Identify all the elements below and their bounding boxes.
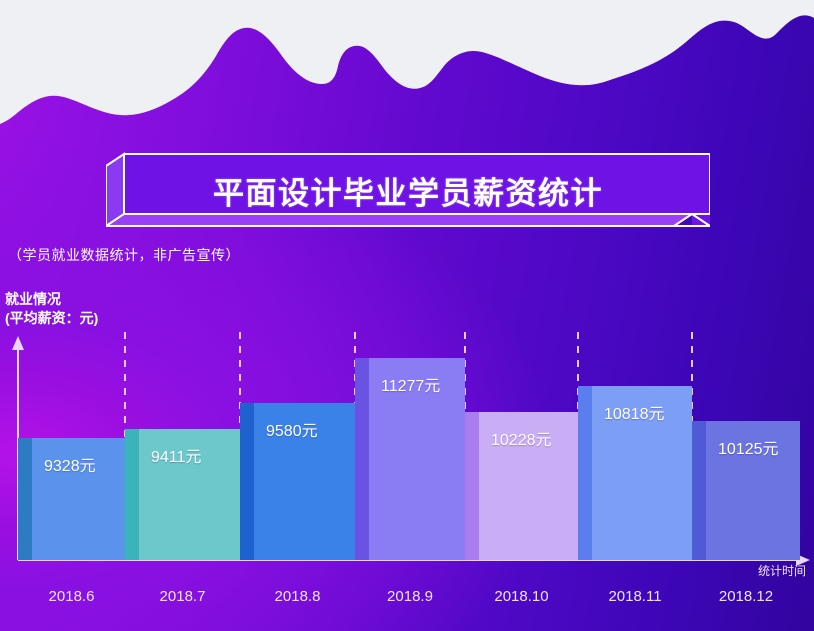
- bar-edge: [355, 358, 369, 560]
- bar-value-label: 10228元: [491, 426, 552, 450]
- bar-edge: [692, 421, 706, 560]
- y-axis-caption-line1: 就业情况: [5, 290, 98, 309]
- x-tick-2018.9: 2018.9: [355, 588, 465, 605]
- subtitle-note: （学员就业数据统计，非广告宣传）: [8, 245, 240, 265]
- bar-chart-plot: 9328元9411元9580元11277元10228元10818元10125元: [0, 330, 814, 565]
- bar-edge: [240, 403, 254, 560]
- bar-2018.8[interactable]: 9580元: [240, 403, 355, 560]
- bar-edge: [18, 438, 32, 560]
- bar-value-label: 9580元: [266, 417, 318, 441]
- x-tick-2018.7: 2018.7: [125, 588, 240, 605]
- ribbon-shape: [106, 148, 710, 232]
- x-tick-2018.10: 2018.10: [465, 588, 578, 605]
- bar-2018.9[interactable]: 11277元: [355, 358, 465, 560]
- x-tick-2018.6: 2018.6: [18, 588, 125, 605]
- x-tick-2018.8: 2018.8: [240, 588, 355, 605]
- bar-2018.6[interactable]: 9328元: [18, 438, 125, 560]
- x-axis-tick-labels: 2018.62018.72018.82018.92018.102018.1120…: [0, 588, 814, 614]
- bar-edge: [465, 412, 479, 560]
- wave-decoration: [0, 0, 814, 135]
- bar-series: 9328元9411元9580元11277元10228元10818元10125元: [0, 330, 814, 560]
- bar-value-label: 10818元: [604, 400, 665, 424]
- x-tick-2018.11: 2018.11: [578, 588, 692, 605]
- bar-2018.12[interactable]: 10125元: [692, 421, 800, 560]
- bar-2018.7[interactable]: 9411元: [125, 429, 240, 560]
- bar-value-label: 11277元: [381, 372, 440, 396]
- bar-2018.10[interactable]: 10228元: [465, 412, 578, 560]
- y-axis-caption-line2: (平均薪资：元): [5, 309, 98, 328]
- title-ribbon: 平面设计毕业学员薪资统计: [106, 148, 710, 232]
- bar-value-label: 9411元: [151, 443, 201, 467]
- x-axis-caption: 统计时间: [758, 562, 806, 579]
- infographic-canvas: 平面设计毕业学员薪资统计 （学员就业数据统计，非广告宣传） 就业情况 (平均薪资…: [0, 0, 814, 631]
- bar-edge: [125, 429, 139, 560]
- x-tick-2018.12: 2018.12: [692, 588, 800, 605]
- bar-value-label: 9328元: [44, 452, 96, 476]
- bar-value-label: 10125元: [718, 435, 779, 459]
- bar-edge: [578, 386, 592, 560]
- bar-2018.11[interactable]: 10818元: [578, 386, 692, 560]
- y-axis-caption: 就业情况 (平均薪资：元): [5, 290, 98, 328]
